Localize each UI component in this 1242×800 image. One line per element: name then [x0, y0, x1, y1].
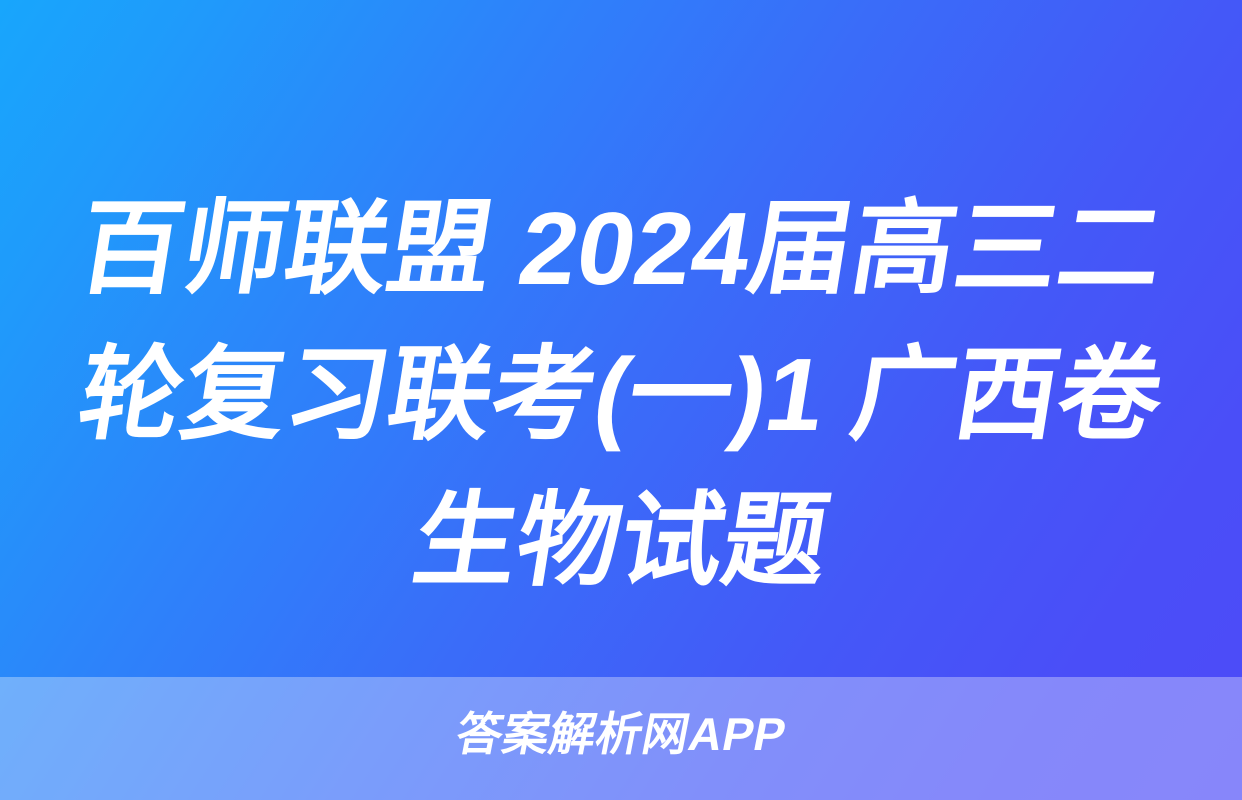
poster-canvas: 百师联盟 2024届高三二 轮复习联考(一)1 广西卷 生物试题 答案解析网AP… — [0, 0, 1242, 800]
title-line-2: 轮复习联考(一)1 广西卷 — [62, 322, 1179, 468]
watermark: 答案解析网APP — [0, 706, 1242, 762]
title-line-3: 生物试题 — [62, 468, 1179, 614]
watermark-label: 答案解析网APP — [451, 706, 790, 762]
title-line-1: 百师联盟 2024届高三二 — [62, 176, 1179, 322]
page-title: 百师联盟 2024届高三二 轮复习联考(一)1 广西卷 生物试题 — [0, 176, 1242, 614]
